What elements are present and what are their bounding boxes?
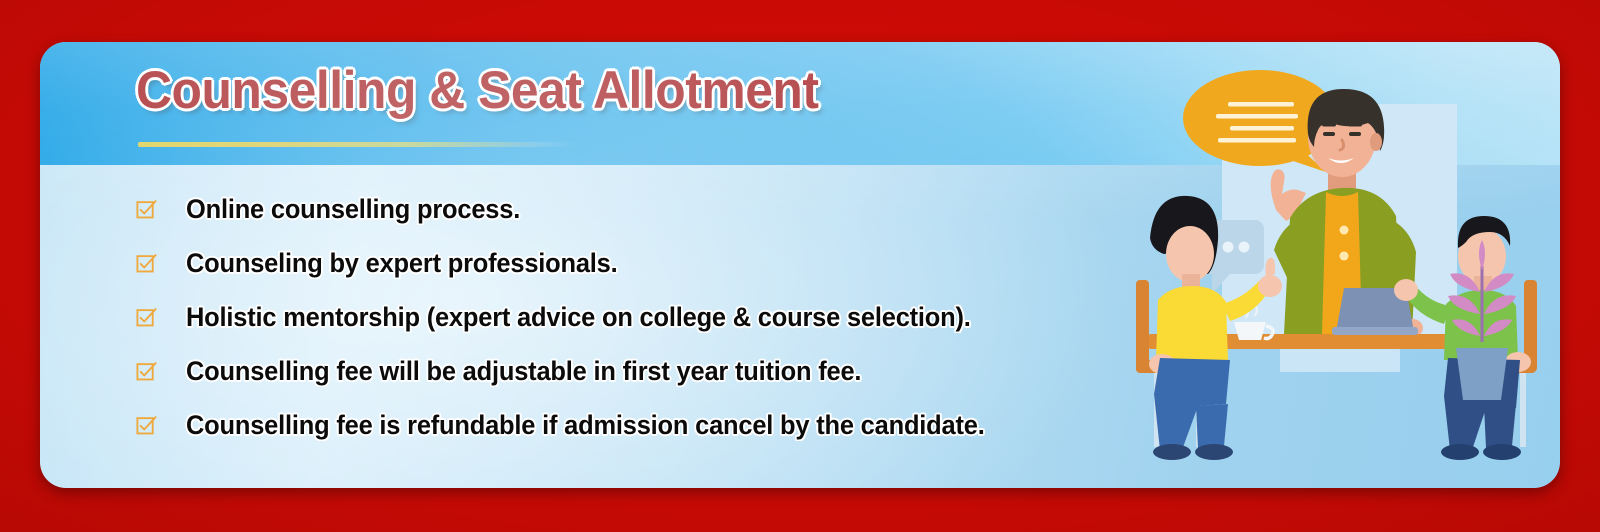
list-item: Counseling by expert professionals.: [136, 236, 1196, 290]
list-item: Counselling fee will be adjustable in fi…: [136, 344, 1196, 398]
list-item: Holistic mentorship (expert advice on co…: [136, 290, 1196, 344]
checkbox-checked-icon: [136, 415, 157, 436]
banner-card: Counselling & Seat Allotment Online coun…: [40, 42, 1560, 488]
checkbox-checked-icon: [136, 199, 157, 220]
title-underline: [138, 142, 578, 147]
checkbox-checked-icon: [136, 253, 157, 274]
online-counselling-illustration: [1130, 42, 1560, 488]
list-item-label: Holistic mentorship (expert advice on co…: [186, 302, 971, 333]
banner-frame: Counselling & Seat Allotment Online coun…: [0, 0, 1600, 532]
list-item-label: Counseling by expert professionals.: [186, 248, 618, 279]
page-title: Counselling & Seat Allotment: [136, 60, 819, 121]
list-item-label: Online counselling process.: [186, 194, 520, 225]
list-item: Counselling fee is refundable if admissi…: [136, 398, 1196, 452]
checkbox-checked-icon: [136, 307, 157, 328]
feature-list: Online counselling process. Counseling b…: [136, 182, 1196, 452]
checkbox-checked-icon: [136, 361, 157, 382]
list-item-label: Counselling fee is refundable if admissi…: [186, 410, 985, 441]
list-item-label: Counselling fee will be adjustable in fi…: [186, 356, 861, 387]
list-item: Online counselling process.: [136, 182, 1196, 236]
